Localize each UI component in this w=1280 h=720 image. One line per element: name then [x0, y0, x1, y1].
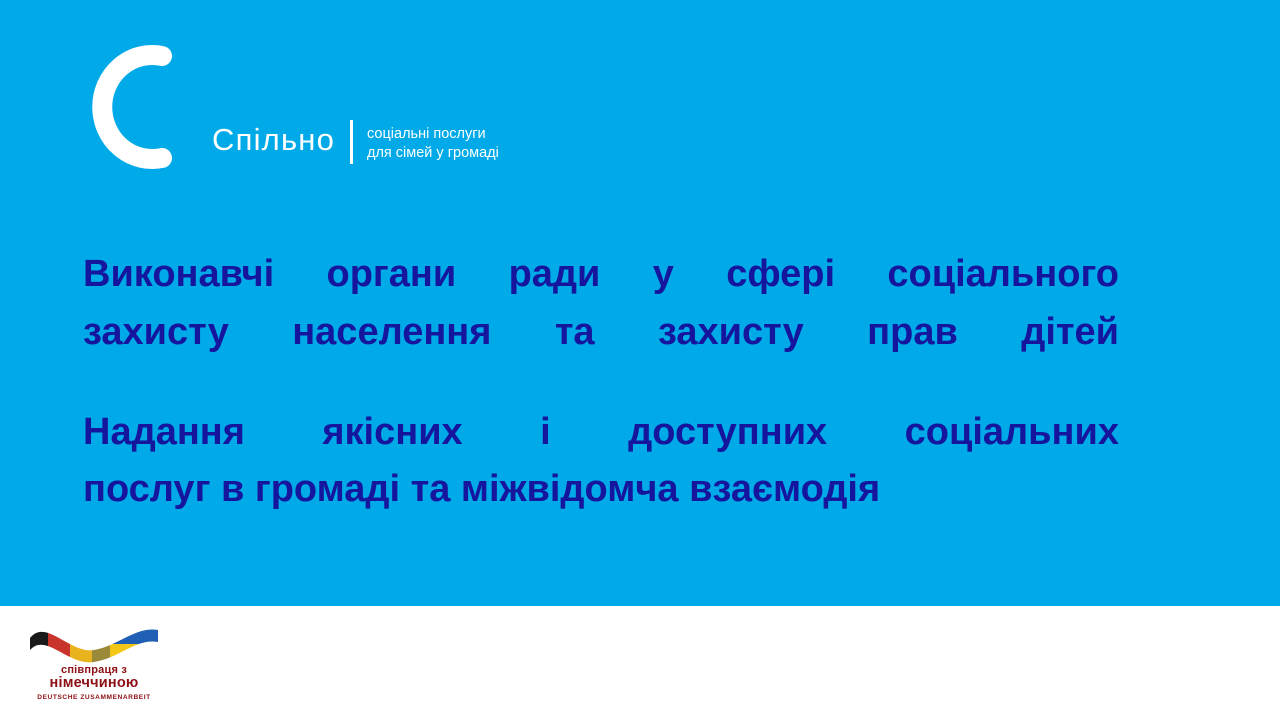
headline-secondary-line1: Надання якісних і доступних соціальних — [83, 404, 1119, 462]
headline-block: Виконавчі органи ради у сфері соціальног… — [83, 246, 1119, 519]
brand-tagline-line1: соціальні послуги — [367, 125, 499, 144]
headline-secondary-line2: послуг в громаді та міжвідомча взаємодія — [83, 461, 1119, 519]
brand-wordmark: Спільно — [212, 124, 335, 155]
brand-divider — [350, 120, 353, 164]
headline-primary-line2: захисту населення та захисту прав дітей — [83, 304, 1119, 362]
c-arc-icon — [84, 36, 172, 178]
german-cooperation-logo: співпраця з німеччиною DEUTSCHE ZUSAMMEN… — [24, 620, 164, 704]
headline-secondary: Надання якісних і доступних соціальних п… — [83, 404, 1119, 520]
giz-line2: німеччиною — [28, 676, 160, 692]
slide-stage: Спільно соціальні послуги для сімей у гр… — [0, 0, 1280, 606]
headline-primary: Виконавчі органи ради у сфері соціальног… — [83, 246, 1119, 362]
brand-tagline-line2: для сімей у громаді — [367, 144, 499, 163]
german-ukrainian-flag-ribbon-icon — [24, 620, 164, 668]
headline-primary-line1: Виконавчі органи ради у сфері соціальног… — [83, 246, 1119, 304]
presentation-slide: Спільно соціальні послуги для сімей у гр… — [0, 0, 1280, 720]
brand-tagline: соціальні послуги для сімей у громаді — [367, 125, 499, 163]
brand-logo: Спільно соціальні послуги для сімей у гр… — [84, 36, 464, 181]
giz-line3: DEUTSCHE ZUSAMMENARBEIT — [28, 694, 160, 701]
slide-footer: співпраця з німеччиною DEUTSCHE ZUSAMMEN… — [0, 606, 1280, 720]
german-cooperation-text: співпраця з німеччиною DEUTSCHE ZUSAMMEN… — [28, 664, 160, 701]
